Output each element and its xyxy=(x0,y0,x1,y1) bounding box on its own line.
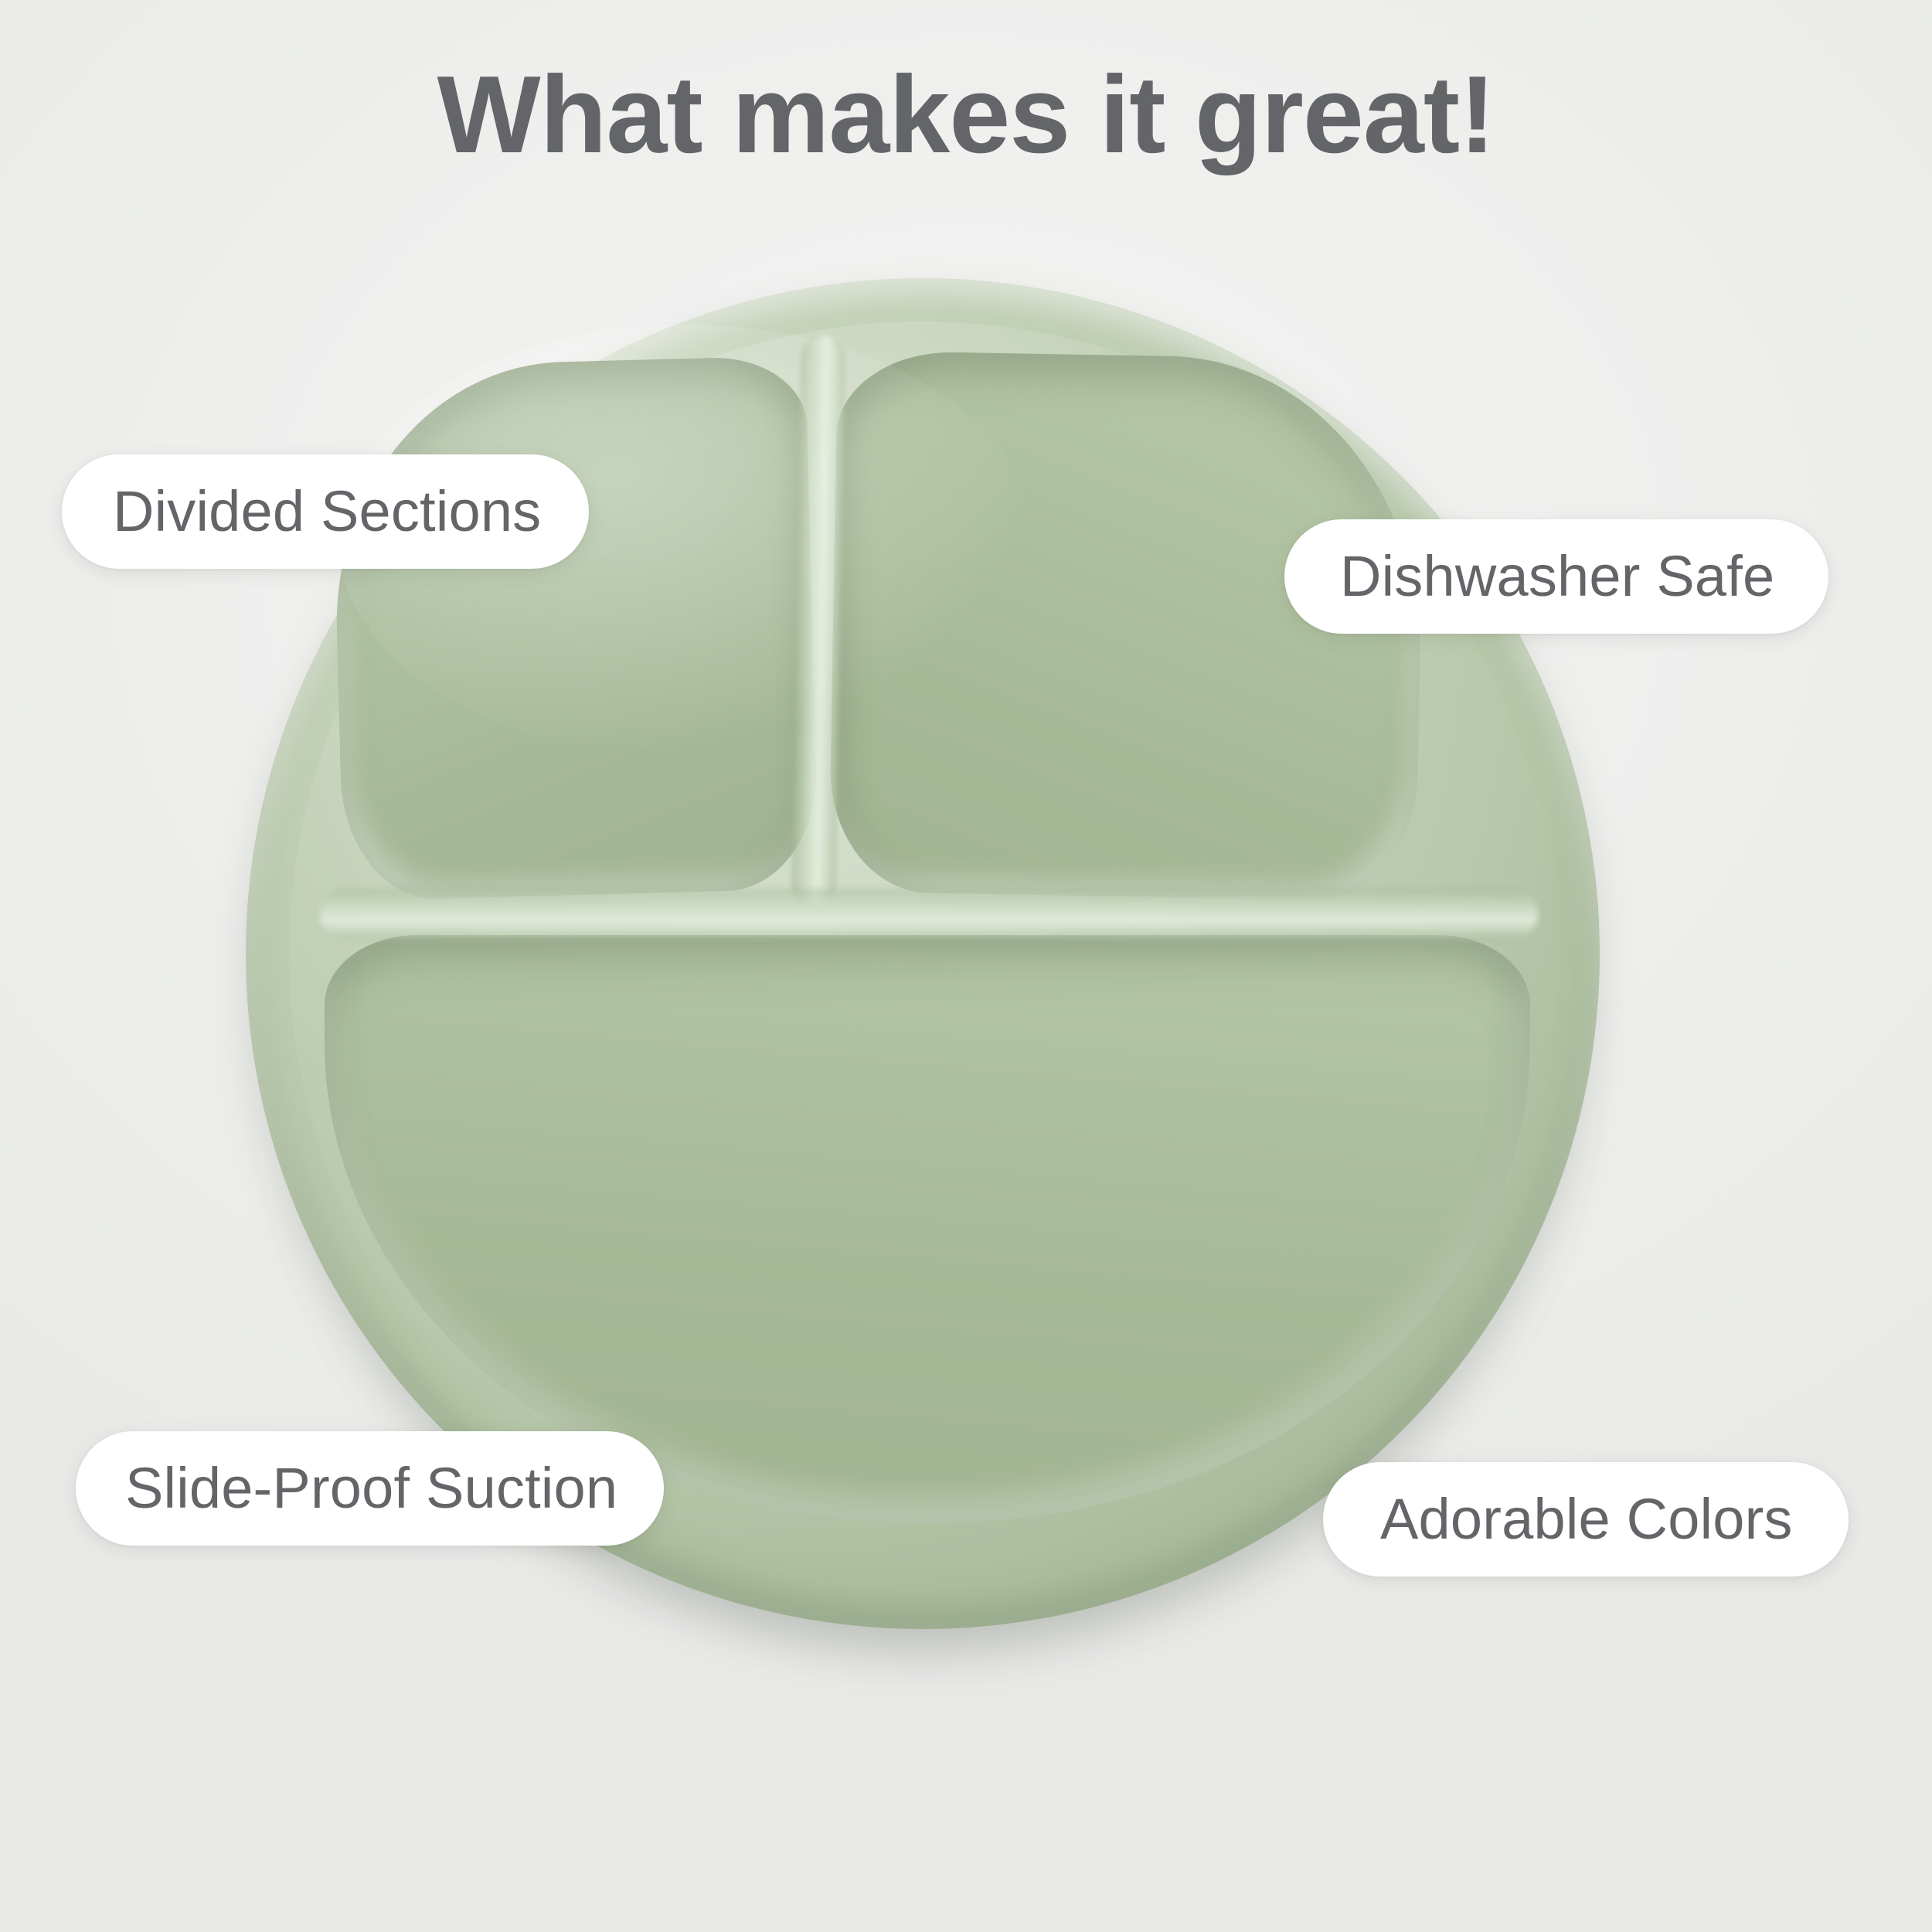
plate-compartment-top-left xyxy=(330,355,819,901)
feature-label-text: Adorable Colors xyxy=(1380,1491,1793,1548)
feature-label-text: Slide-Proof Suction xyxy=(125,1460,617,1517)
feature-label-text: Dishwasher Safe xyxy=(1340,548,1774,605)
page-title: What makes it great! xyxy=(0,60,1932,170)
feature-label-adorable-colors[interactable]: Adorable Colors xyxy=(1323,1462,1849,1577)
infographic-canvas: What makes it great! Divided Sections Di… xyxy=(0,0,1932,1932)
feature-label-dishwasher-safe[interactable]: Dishwasher Safe xyxy=(1284,519,1828,634)
feature-label-text: Divided Sections xyxy=(113,483,541,540)
feature-label-slide-proof-suction[interactable]: Slide-Proof Suction xyxy=(76,1431,664,1546)
plate-divider-horizontal xyxy=(320,889,1538,940)
feature-label-divided-sections[interactable]: Divided Sections xyxy=(62,454,589,569)
